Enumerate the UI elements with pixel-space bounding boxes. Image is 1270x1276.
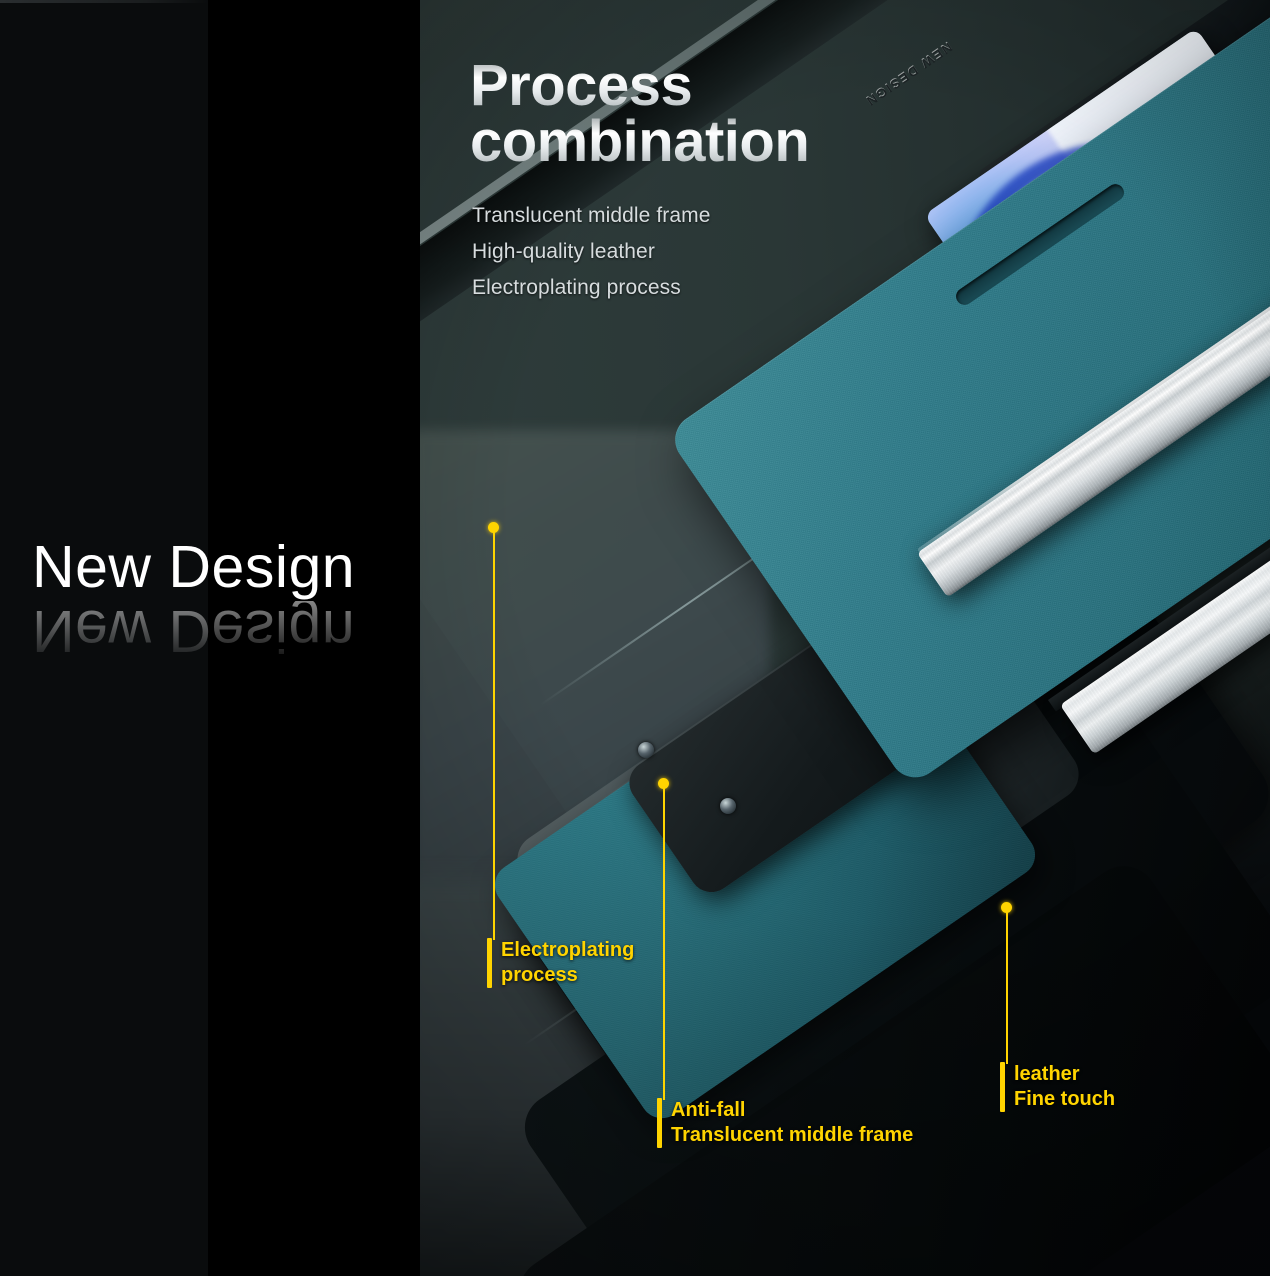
callout-dot-anti-fall [658, 778, 669, 789]
headline-line-1: Process [470, 58, 890, 114]
new-design-title: New Design [32, 538, 355, 597]
callout-leather-text: leather Fine touch [1014, 1062, 1115, 1112]
callout-anti-fall-line-1: Anti-fall [671, 1098, 913, 1123]
product-photo [420, 0, 1270, 1276]
callout-leader-leather [1006, 912, 1008, 1064]
product-marketing-image: NEW DESIGN Process combination Transluce… [0, 0, 1270, 1276]
callout-electroplating-text: Electroplating process [501, 938, 634, 988]
feature-list: Translucent middle frame High-quality le… [472, 198, 711, 306]
new-design-wordmark: New Design New Design [32, 538, 355, 660]
callout-electroplating: Electroplating process [487, 938, 634, 988]
callout-anti-fall-text: Anti-fall Translucent middle frame [671, 1098, 913, 1148]
callout-leather-line-1: leather [1014, 1062, 1115, 1087]
feature-item-1: Translucent middle frame [472, 198, 711, 234]
headline: Process combination [470, 58, 890, 169]
callout-anti-fall: Anti-fall Translucent middle frame [657, 1098, 913, 1148]
callout-dot-electroplating [488, 522, 499, 533]
feature-item-2: High-quality leather [472, 234, 711, 270]
callout-leather: leather Fine touch [1000, 1062, 1115, 1112]
new-design-reflection: New Design [32, 601, 355, 660]
top-hairline [0, 0, 208, 3]
camera-lens-icon [638, 742, 654, 758]
callout-electroplating-line-2: process [501, 963, 634, 988]
callout-electroplating-line-1: Electroplating [501, 938, 634, 963]
callout-tick-icon [487, 938, 492, 988]
headline-line-2: combination [470, 114, 890, 170]
callout-leader-electroplating [493, 532, 495, 940]
callout-dot-leather [1001, 902, 1012, 913]
callout-leather-line-2: Fine touch [1014, 1087, 1115, 1112]
callout-leader-anti-fall [663, 788, 665, 1100]
callout-tick-icon [657, 1098, 662, 1148]
callout-tick-icon [1000, 1062, 1005, 1112]
feature-item-3: Electroplating process [472, 270, 711, 306]
camera-lens-icon [720, 798, 736, 814]
callout-anti-fall-line-2: Translucent middle frame [671, 1123, 913, 1148]
